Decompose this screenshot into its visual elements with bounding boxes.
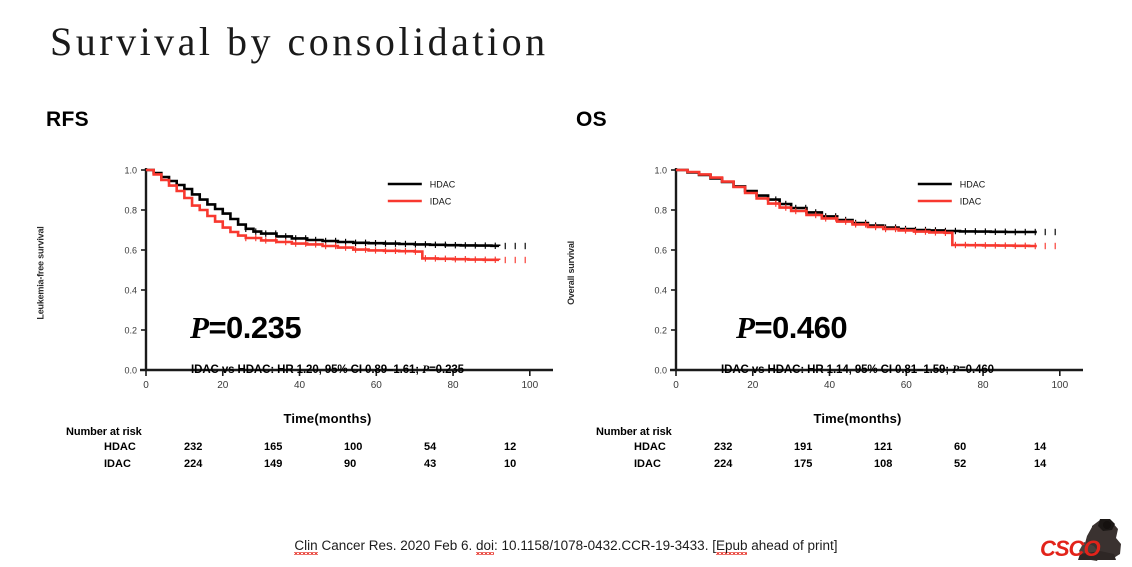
risk-count-cell: 191	[794, 441, 812, 453]
y-axis-title-label-rfs: Leukemia-free survival	[36, 226, 46, 319]
risk-count-cell: 165	[264, 441, 282, 453]
y-axis-title-os: Overall survival	[562, 164, 580, 382]
risk-count-cell: 14	[1034, 458, 1046, 470]
risk-table-title-os: Number at risk	[596, 426, 1096, 438]
panel-heading-rfs: RFS	[46, 108, 89, 132]
risk-count-cell: 43	[424, 458, 436, 470]
risk-row-label: HDAC	[634, 441, 680, 453]
x-tick-label: 80	[447, 380, 459, 391]
risk-table-title-rfs: Number at risk	[66, 426, 566, 438]
y-tick-label: 1.0	[654, 166, 667, 176]
risk-count-cell: 100	[344, 441, 362, 453]
pvalue-number-rfs: =0.235	[208, 310, 301, 345]
hazard-ratio-note-os: IDAC vs HDAC: HR 1.14, 95% CI 0.81–1.59;…	[630, 364, 1085, 376]
risk-count-cell: 232	[184, 441, 202, 453]
risk-table-os: Number at risk HDAC2321911216014IDAC2241…	[596, 426, 1096, 475]
risk-table-rfs: Number at risk HDAC2321651005412IDAC2241…	[66, 426, 566, 475]
x-tick-label: 60	[901, 380, 913, 391]
x-tick-label: 0	[143, 380, 149, 391]
x-axis-title-rfs: Time(months)	[100, 411, 555, 426]
y-tick-label: 0.6	[124, 246, 137, 256]
x-tick-label: 60	[371, 380, 383, 391]
risk-count-cell: 175	[794, 458, 812, 470]
risk-count-cell: 224	[714, 458, 732, 470]
pvalue-annotation-rfs: P=0.235	[190, 310, 301, 346]
y-axis-title-label-os: Overall survival	[566, 241, 576, 305]
panel-os: OS Overall survival 0.00.20.40.60.81.002…	[568, 108, 1108, 488]
legend-label-hdac: HDAC	[430, 180, 456, 190]
risk-count-cell: 121	[874, 441, 892, 453]
risk-table-row: IDAC2241751085214	[596, 458, 1096, 475]
y-tick-label: 0.8	[124, 206, 137, 216]
y-tick-label: 0.4	[654, 286, 667, 296]
citation-part-journal: Cancer Res. 2020 Feb 6.	[318, 538, 476, 553]
x-tick-label: 0	[673, 380, 679, 391]
y-tick-label: 1.0	[124, 166, 137, 176]
x-tick-label: 20	[747, 380, 759, 391]
chart-legend: HDACIDAC	[918, 180, 986, 207]
y-tick-label: 0.2	[654, 326, 667, 336]
risk-count-cell: 14	[1034, 441, 1046, 453]
x-tick-label: 20	[217, 380, 229, 391]
citation: Clin Cancer Res. 2020 Feb 6. doi: 10.115…	[0, 538, 1132, 553]
pvalue-p-italic-os: P	[736, 310, 754, 345]
panel-heading-os: OS	[576, 108, 607, 132]
censor-marks-idac	[776, 200, 1055, 249]
risk-table-row: HDAC2321651005412	[66, 441, 566, 458]
chart-legend: HDACIDAC	[388, 180, 456, 207]
hr-note-suffix-rfs: =0.235	[429, 364, 464, 376]
x-axis-title-os: Time(months)	[630, 411, 1085, 426]
legend-label-idac: IDAC	[430, 197, 452, 207]
risk-row-label: HDAC	[104, 441, 150, 453]
citation-part-doi: doi	[476, 538, 494, 555]
hr-note-prefix-os: IDAC vs HDAC: HR 1.14, 95% CI 0.81–1.59;	[721, 364, 952, 376]
x-tick-label: 100	[1051, 380, 1068, 391]
pvalue-number-os: =0.460	[754, 310, 847, 345]
pvalue-annotation-os: P=0.460	[736, 310, 847, 346]
y-axis-title-rfs: Leukemia-free survival	[32, 164, 50, 382]
pvalue-p-italic-rfs: P	[190, 310, 208, 345]
risk-count-cell: 54	[424, 441, 436, 453]
y-tick-label: 0.4	[124, 286, 137, 296]
csco-wordmark: CSCO	[1040, 536, 1100, 562]
x-tick-label: 40	[294, 380, 306, 391]
legend-label-idac: IDAC	[960, 197, 982, 207]
citation-part-epub: Epub	[716, 538, 748, 555]
risk-count-cell: 224	[184, 458, 202, 470]
y-tick-label: 0.2	[124, 326, 137, 336]
risk-count-cell: 149	[264, 458, 282, 470]
csco-logo: CSCO	[1040, 516, 1126, 562]
x-tick-label: 100	[521, 380, 538, 391]
risk-count-cell: 52	[954, 458, 966, 470]
hazard-ratio-note-rfs: IDAC vs HDAC: HR 1.20, 95% CI 0.89–1.61;…	[100, 364, 555, 376]
citation-part-clin: Clin	[294, 538, 317, 555]
risk-count-cell: 90	[344, 458, 356, 470]
y-tick-label: 0.6	[654, 246, 667, 256]
panel-rfs: RFS Leukemia-free survival 0.00.20.40.60…	[38, 108, 578, 488]
x-tick-label: 40	[824, 380, 836, 391]
y-tick-label: 0.8	[654, 206, 667, 216]
risk-row-label: IDAC	[104, 458, 150, 470]
citation-part-tail: ahead of print]	[747, 538, 837, 553]
x-tick-label: 80	[977, 380, 989, 391]
risk-table-row: HDAC2321911216014	[596, 441, 1096, 458]
risk-count-cell: 60	[954, 441, 966, 453]
risk-count-cell: 12	[504, 441, 516, 453]
page-title: Survival by consolidation	[50, 18, 549, 65]
citation-part-doi-value: : 10.1158/1078-0432.CCR-19-3433. [	[494, 538, 716, 553]
risk-count-cell: 108	[874, 458, 892, 470]
hr-note-prefix-rfs: IDAC vs HDAC: HR 1.20, 95% CI 0.89–1.61;	[191, 364, 422, 376]
risk-count-cell: 232	[714, 441, 732, 453]
hr-note-suffix-os: =0.460	[959, 364, 994, 376]
legend-label-hdac: HDAC	[960, 180, 986, 190]
risk-row-label: IDAC	[634, 458, 680, 470]
risk-count-cell: 10	[504, 458, 516, 470]
risk-table-row: IDAC224149904310	[66, 458, 566, 475]
